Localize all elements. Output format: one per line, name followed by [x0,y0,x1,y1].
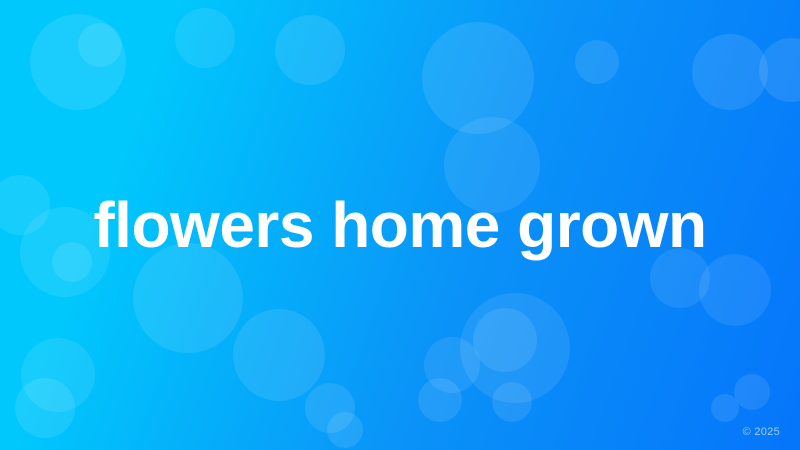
copyright-notice: © 2025 [743,427,780,438]
page-title: flowers home grown [93,193,706,257]
headline-container: flowers home grown [0,0,800,450]
banner-canvas: flowers home grown © 2025 [0,0,800,450]
